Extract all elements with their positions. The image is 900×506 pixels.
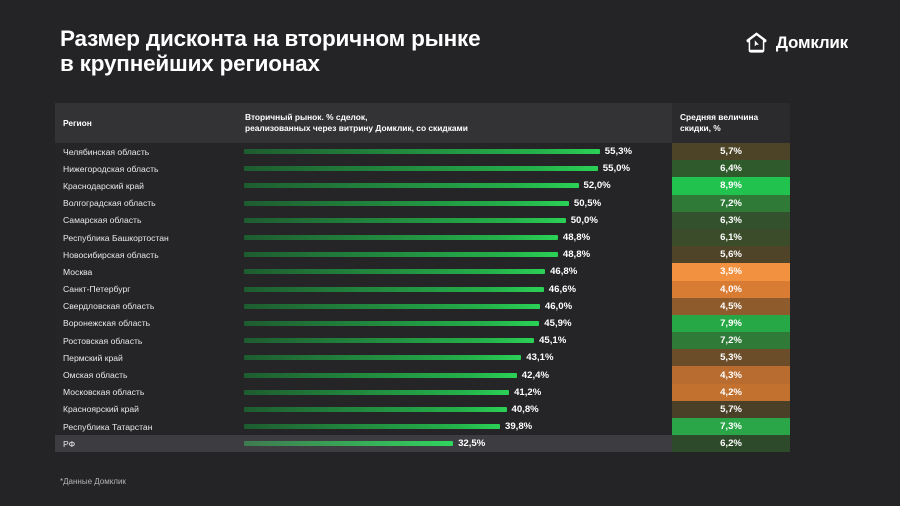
bar-value-label: 45,1% [539,335,566,346]
discount-heat-cell: 3,5% [672,263,790,280]
table-row: Москва46,8%3,5% [55,263,790,280]
bar-value-label: 55,3% [605,146,632,157]
bar-value-label: 50,0% [571,215,598,226]
region-name-cell: РФ [55,435,240,452]
discount-heat-cell: 6,2% [672,435,790,452]
bar-cell: 55,0% [240,160,672,177]
bar [244,166,598,171]
region-name-cell: Республика Татарстан [55,418,240,435]
table-row: Нижегородская область55,0%6,4% [55,160,790,177]
table-row: Омская область42,4%4,3% [55,366,790,383]
bar [244,338,534,343]
discount-heat-cell: 4,5% [672,298,790,315]
bar [244,149,600,154]
brand-logo: Домклик [745,31,848,54]
bar [244,390,509,395]
bar-value-label: 48,8% [563,232,590,243]
bar-cell: 42,4% [240,366,672,383]
bar-value-label: 55,0% [603,163,630,174]
column-header-secondary-market: Вторичный рынок. % сделок, реализованных… [240,103,672,143]
bar-value-label: 42,4% [522,370,549,381]
region-name-cell: Республика Башкортостан [55,229,240,246]
bar-cell: 43,1% [240,349,672,366]
discount-heat-cell: 5,3% [672,349,790,366]
bar-cell: 46,0% [240,298,672,315]
page-header: Размер дисконта на вторичном рынке в кру… [0,0,900,96]
table-row: Республика Татарстан39,8%7,3% [55,418,790,435]
brand-name: Домклик [776,33,848,53]
bar-cell: 52,0% [240,177,672,194]
bar-cell: 40,8% [240,401,672,418]
discount-heat-cell: 4,3% [672,366,790,383]
regions-table: Регион Вторичный рынок. % сделок, реализ… [55,103,790,452]
region-name-cell: Краснодарский край [55,177,240,194]
bar [244,441,453,446]
region-name-cell: Воронежская область [55,315,240,332]
bar [244,355,521,360]
bar [244,235,558,240]
bar [244,252,558,257]
table-row: Свердловская область46,0%4,5% [55,298,790,315]
bar [244,201,569,206]
discount-heat-cell: 8,9% [672,177,790,194]
discount-heat-cell: 6,4% [672,160,790,177]
bar-value-label: 46,8% [550,266,577,277]
table-row: Республика Башкортостан48,8%6,1% [55,229,790,246]
bar-value-label: 46,6% [549,284,576,295]
table-row: Воронежская область45,9%7,9% [55,315,790,332]
bar [244,183,579,188]
discount-heat-cell: 5,7% [672,401,790,418]
discount-heat-cell: 6,1% [672,229,790,246]
discount-heat-cell: 7,9% [672,315,790,332]
bar [244,424,500,429]
bar-cell: 55,3% [240,143,672,160]
region-name-cell: Москва [55,263,240,280]
bar-value-label: 52,0% [584,180,611,191]
bar [244,304,540,309]
bar-cell: 50,5% [240,195,672,212]
bar-value-label: 50,5% [574,198,601,209]
bar-cell: 32,5% [240,435,672,452]
region-name-cell: Челябинская область [55,143,240,160]
table-row: Пермский край43,1%5,3% [55,349,790,366]
discount-heat-cell: 7,2% [672,195,790,212]
bar-cell: 48,8% [240,246,672,263]
region-name-cell: Новосибирская область [55,246,240,263]
region-name-cell: Омская область [55,366,240,383]
bar-value-label: 41,2% [514,387,541,398]
bar-cell: 48,8% [240,229,672,246]
bar [244,269,545,274]
bar-cell: 46,6% [240,281,672,298]
bar [244,321,539,326]
bar [244,287,544,292]
house-icon [745,31,768,54]
bar [244,407,507,412]
discount-heat-cell: 4,0% [672,281,790,298]
discount-heat-cell: 5,7% [672,143,790,160]
bar-cell: 46,8% [240,263,672,280]
region-name-cell: Московская область [55,384,240,401]
page-title: Размер дисконта на вторичном рынке в кру… [60,26,480,76]
column-header-average-discount: Средняя величина скидки, % [672,103,790,143]
bar-value-label: 40,8% [512,404,539,415]
region-name-cell: Самарская область [55,212,240,229]
bar-cell: 50,0% [240,212,672,229]
region-name-cell: Нижегородская область [55,160,240,177]
bar-value-label: 45,9% [544,318,571,329]
discount-heat-cell: 5,6% [672,246,790,263]
region-name-cell: Ростовская область [55,332,240,349]
region-name-cell: Пермский край [55,349,240,366]
bar-value-label: 43,1% [526,352,553,363]
footnote: *Данные Домклик [60,477,126,486]
table-row: Ростовская область45,1%7,2% [55,332,790,349]
table-row: Самарская область50,0%6,3% [55,212,790,229]
table-row: Челябинская область55,3%5,7% [55,143,790,160]
discount-heat-cell: 7,2% [672,332,790,349]
bar [244,373,517,378]
discount-heat-cell: 6,3% [672,212,790,229]
bar-cell: 41,2% [240,384,672,401]
region-name-cell: Волгоградская область [55,195,240,212]
table-row: Санкт-Петербург46,6%4,0% [55,281,790,298]
table-row: Волгоградская область50,5%7,2% [55,195,790,212]
table-row: Краснодарский край52,0%8,9% [55,177,790,194]
bar-value-label: 46,0% [545,301,572,312]
bar-cell: 39,8% [240,418,672,435]
discount-heat-cell: 7,3% [672,418,790,435]
table-body: Челябинская область55,3%5,7%Нижегородска… [55,143,790,452]
table-header-row: Регион Вторичный рынок. % сделок, реализ… [55,103,790,143]
bar-value-label: 39,8% [505,421,532,432]
region-name-cell: Свердловская область [55,298,240,315]
table-row: Московская область41,2%4,2% [55,384,790,401]
bar-value-label: 48,8% [563,249,590,260]
table-row: Красноярский край40,8%5,7% [55,401,790,418]
table-row: Новосибирская область48,8%5,6% [55,246,790,263]
region-name-cell: Красноярский край [55,401,240,418]
bar-cell: 45,9% [240,315,672,332]
region-name-cell: Санкт-Петербург [55,281,240,298]
table-row: РФ32,5%6,2% [55,435,790,452]
bar [244,218,566,223]
bar-cell: 45,1% [240,332,672,349]
discount-heat-cell: 4,2% [672,384,790,401]
column-header-region: Регион [55,103,240,143]
bar-value-label: 32,5% [458,438,485,449]
